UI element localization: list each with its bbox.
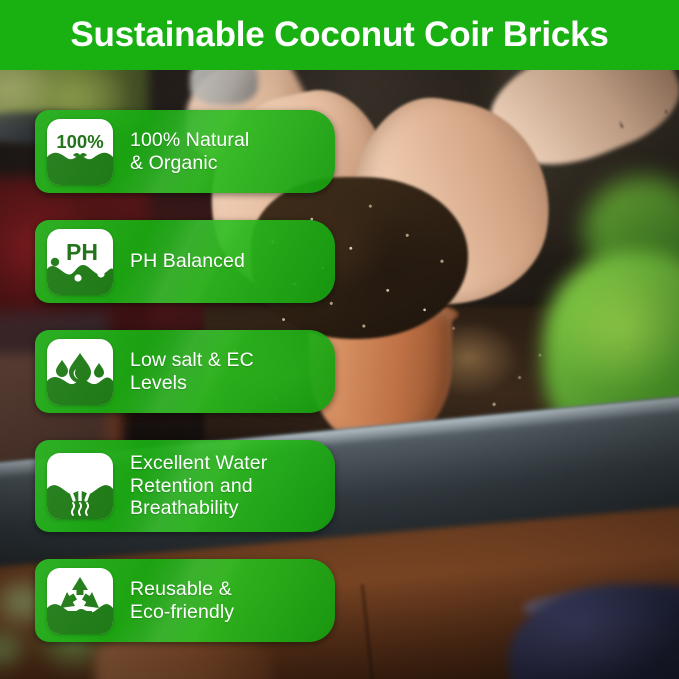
feature-badge: 100% 100% Natural & Organic (35, 110, 335, 193)
feature-label: Excellent Water Retention and Breathabil… (130, 452, 267, 520)
feature-badge: Reusable & Eco-friendly (35, 559, 335, 642)
feature-badge-list: 100% 100% Natural & Organic PH PH Balanc… (35, 110, 335, 669)
hundred-percent-natural-icon: 100% (47, 119, 113, 185)
feature-label: Reusable & Eco-friendly (130, 578, 234, 623)
feature-label: Low salt & EC Levels (130, 349, 254, 394)
feature-badge: Low salt & EC Levels (35, 330, 335, 413)
feature-label: PH Balanced (130, 250, 245, 273)
upward-arrows-aeration-icon (47, 453, 113, 519)
recycle-icon (47, 568, 113, 634)
feature-badge: PH PH Balanced (35, 220, 335, 303)
water-droplets-icon (47, 339, 113, 405)
icon-label-ph: PH (66, 239, 98, 265)
page-title: Sustainable Coconut Coir Bricks (70, 15, 608, 55)
product-infographic: Sustainable Coconut Coir Bricks 100% 100… (0, 0, 679, 679)
icon-label-hundred-percent: 100% (56, 131, 103, 152)
header-bar: Sustainable Coconut Coir Bricks (0, 0, 679, 70)
ph-balanced-icon: PH (47, 229, 113, 295)
feature-badge: Excellent Water Retention and Breathabil… (35, 440, 335, 532)
feature-label: 100% Natural & Organic (130, 129, 249, 174)
